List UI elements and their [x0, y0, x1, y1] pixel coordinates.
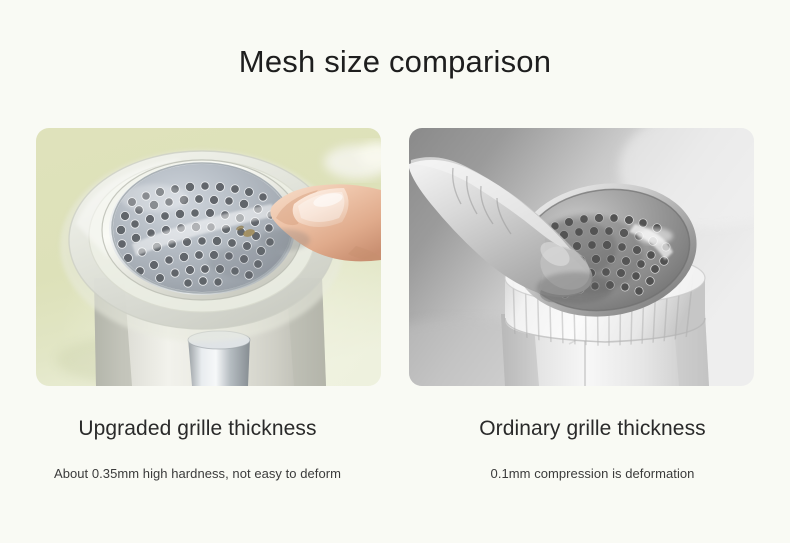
caption-column-ordinary: Ordinary grille thickness 0.1mm compress…	[395, 414, 790, 483]
panel-upgraded	[36, 128, 381, 386]
caption-column-upgraded: Upgraded grille thickness About 0.35mm h…	[0, 414, 395, 483]
caption-upgraded-title: Upgraded grille thickness	[0, 414, 395, 444]
page-title: Mesh size comparison	[0, 42, 790, 82]
caption-upgraded-subtitle: About 0.35mm high hardness, not easy to …	[0, 465, 395, 483]
caption-row: Upgraded grille thickness About 0.35mm h…	[0, 414, 790, 483]
mesh-size-comparison-page: Mesh size comparison	[0, 0, 790, 543]
caption-ordinary-subtitle: 0.1mm compression is deformation	[395, 465, 790, 483]
caption-ordinary-title: Ordinary grille thickness	[395, 414, 790, 444]
panel-ordinary	[409, 128, 754, 386]
comparison-panels	[36, 128, 754, 386]
upgraded-grille-photo	[36, 128, 381, 386]
ordinary-grille-photo	[409, 128, 754, 386]
